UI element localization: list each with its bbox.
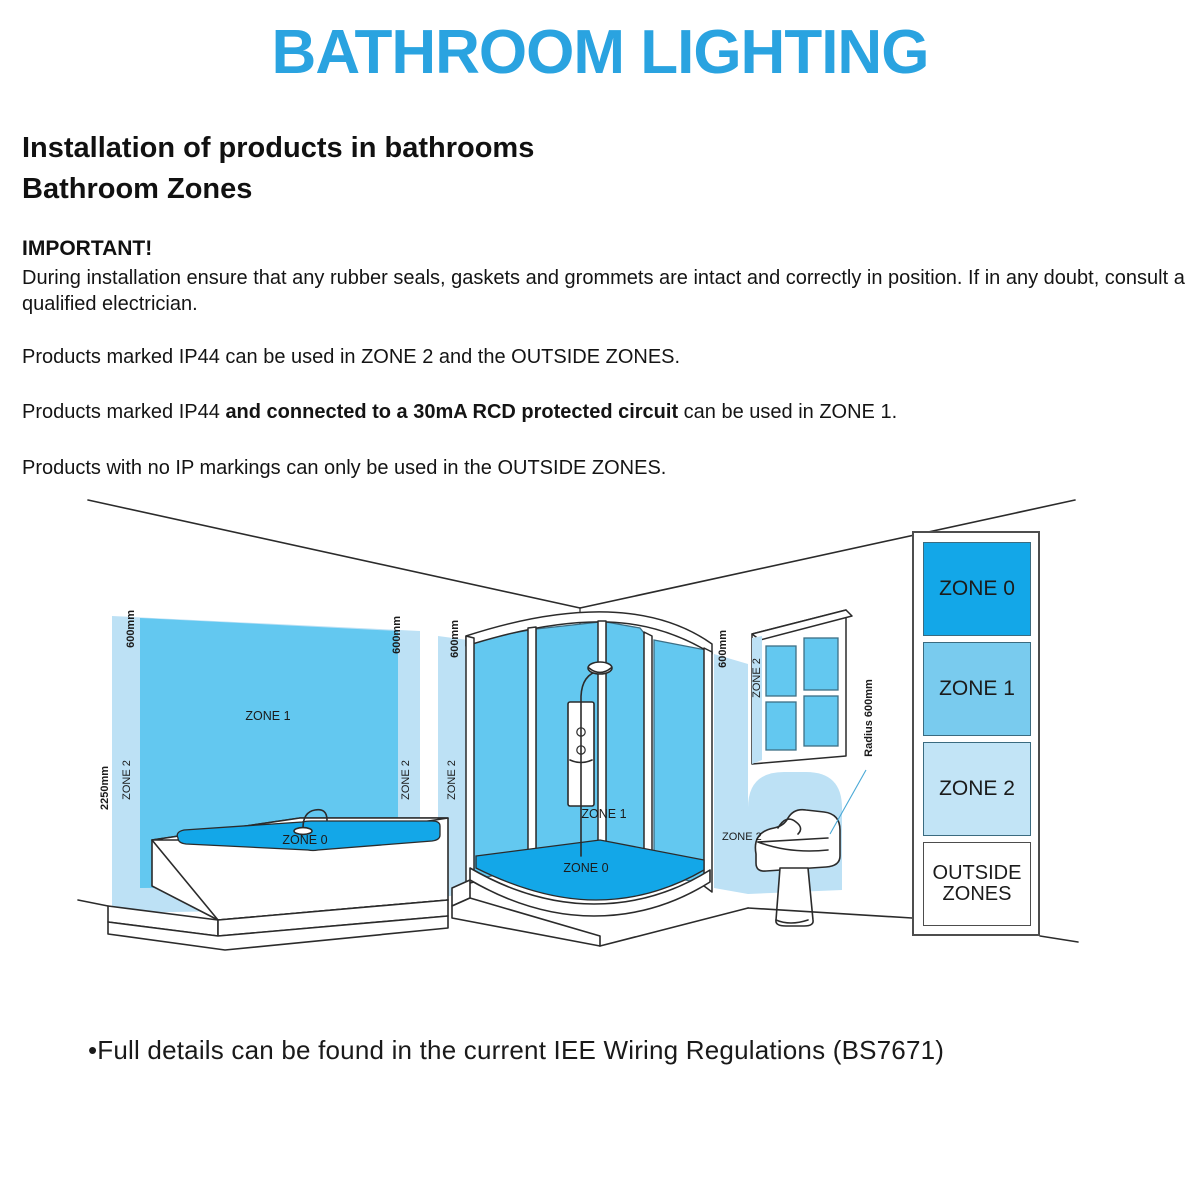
- legend-item-zone-0: ZONE 0: [923, 542, 1031, 636]
- paragraph-installation: During installation ensure that any rubb…: [22, 265, 1192, 318]
- subtitle-line-1: Installation of products in bathrooms: [22, 132, 534, 164]
- page-subtitle: Installation of products in bathrooms Ba…: [22, 128, 1022, 210]
- svg-text:ZONE 0: ZONE 0: [563, 861, 608, 875]
- page-title: BATHROOM LIGHTING: [0, 22, 1200, 84]
- page-root: BATHROOM LIGHTING Installation of produc…: [0, 0, 1200, 1200]
- zone-legend: ZONE 0 ZONE 1 ZONE 2 OUTSIDE ZONES: [912, 531, 1040, 936]
- p3-text-before: Products marked IP44: [22, 401, 225, 423]
- legend-item-zone-2: ZONE 2: [923, 742, 1031, 836]
- legend-outside-zones-label: OUTSIDE ZONES: [933, 863, 1022, 905]
- paragraph-no-ip: Products with no IP markings can only be…: [22, 455, 1192, 481]
- svg-text:ZONE 2: ZONE 2: [400, 760, 412, 800]
- important-label: IMPORTANT!: [22, 237, 152, 261]
- p3-text-after: can be used in ZONE 1.: [678, 401, 897, 423]
- svg-text:ZONE 1: ZONE 1: [581, 807, 626, 821]
- svg-text:ZONE 2: ZONE 2: [722, 831, 762, 843]
- paragraph-ip44-zone2: Products marked IP44 can be used in ZONE…: [22, 344, 1192, 370]
- svg-text:2250mm: 2250mm: [99, 766, 111, 810]
- svg-text:ZONE 2: ZONE 2: [121, 760, 133, 800]
- paragraph-ip44-rcd: Products marked IP44 and connected to a …: [22, 399, 1192, 425]
- svg-text:ZONE 0: ZONE 0: [282, 833, 327, 847]
- footnote-regulations: •Full details can be found in the curren…: [88, 1035, 944, 1066]
- svg-text:600mm: 600mm: [125, 610, 137, 648]
- legend-item-zone-1: ZONE 1: [923, 642, 1031, 736]
- svg-text:600mm: 600mm: [391, 616, 403, 654]
- p3-text-bold: and connected to a 30mA RCD protected ci…: [225, 401, 678, 423]
- svg-text:ZONE 2: ZONE 2: [751, 658, 763, 698]
- svg-text:600mm: 600mm: [717, 630, 729, 668]
- svg-text:Radius 600mm: Radius 600mm: [863, 679, 875, 757]
- legend-item-outside-zones: OUTSIDE ZONES: [923, 842, 1031, 926]
- svg-text:600mm: 600mm: [449, 620, 461, 658]
- svg-text:ZONE 1: ZONE 1: [245, 709, 290, 723]
- svg-text:ZONE 2: ZONE 2: [446, 760, 458, 800]
- zone-legend-items: ZONE 0 ZONE 1 ZONE 2 OUTSIDE ZONES: [923, 542, 1031, 927]
- subtitle-line-2: Bathroom Zones: [22, 173, 252, 205]
